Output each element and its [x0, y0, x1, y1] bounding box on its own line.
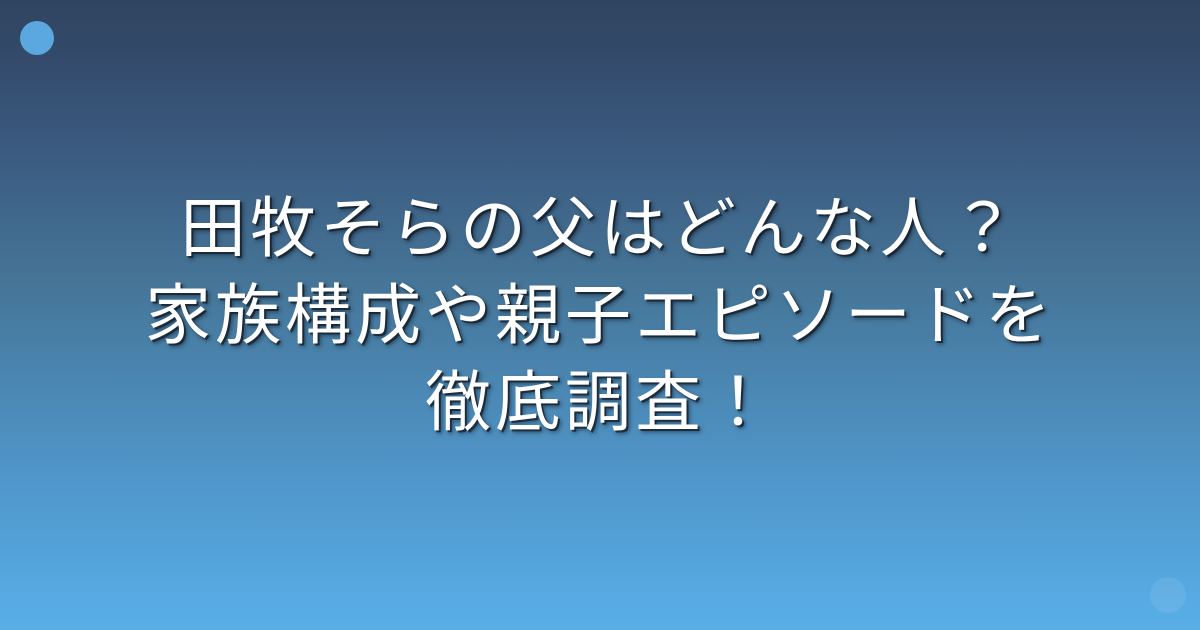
- title-line-2: 家族構成や親子エピソードを: [145, 272, 1055, 359]
- title-line-1: 田牧そらの父はどんな人？: [180, 185, 1020, 272]
- page-title: 田牧そらの父はどんな人？ 家族構成や親子エピソードを 徹底調査！: [0, 0, 1200, 630]
- og-image-card: 田牧そらの父はどんな人？ 家族構成や親子エピソードを 徹底調査！: [0, 0, 1200, 630]
- title-line-3: 徹底調査！: [425, 359, 775, 446]
